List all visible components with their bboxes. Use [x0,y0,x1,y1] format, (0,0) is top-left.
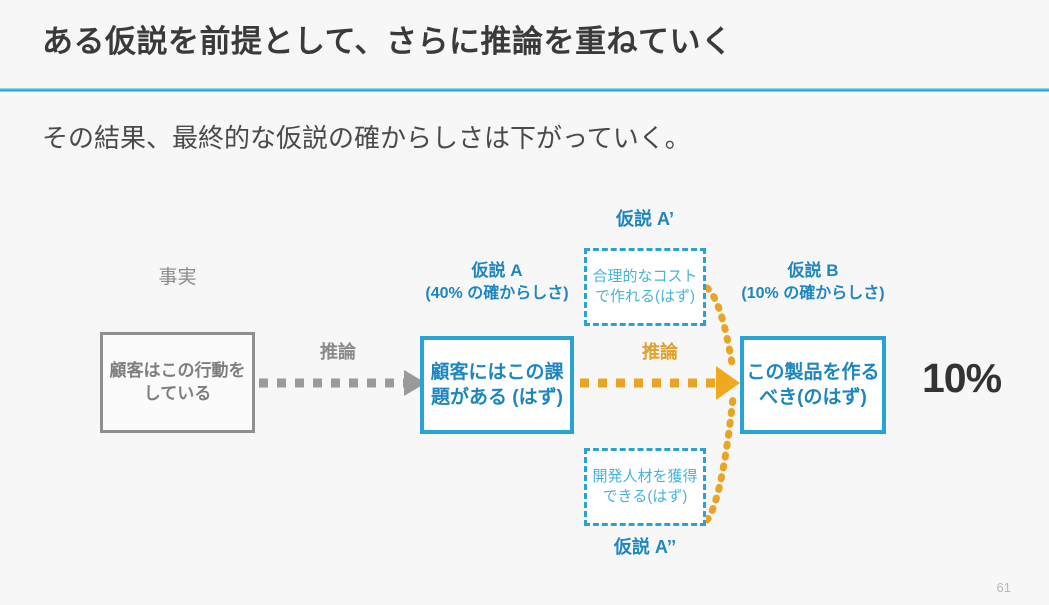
node-hypothesis-a[interactable]: 顧客にはこの課題がある (はず) [420,336,574,434]
node-hypothesis-b[interactable]: この製品を作るべき(のはず) [740,336,886,434]
label-hypothesis-a: 仮説 A (40% の確からしさ) [380,260,614,305]
label-hypothesis-b-title: 仮説 B [788,261,839,280]
node-hypothesis-a-prime[interactable]: 合理的なコストで作れる(はず) [584,248,706,326]
label-hypothesis-a-prime: 仮説 A’ [570,208,720,231]
page-number: 61 [997,580,1011,595]
label-hypothesis-a-double-prime: 仮説 A’’ [570,536,720,559]
label-hypothesis-a-certainty: (40% の確からしさ) [380,284,614,305]
node-fact[interactable]: 顧客はこの行動をしている [100,332,255,433]
final-certainty-callout: 10% [922,355,1001,402]
node-hypothesis-a-double-prime[interactable]: 開発人材を獲得できる(はず) [584,448,706,526]
edge-fact-to-a-icon [259,370,426,396]
hypothesis-chain-diagram: 事実 顧客はこの行動をしている 推論 仮説 A (40% の確からしさ) 顧客に… [0,0,1049,605]
edge-label-inference-2: 推論 [590,341,730,364]
edge-label-inference-1: 推論 [268,341,408,364]
label-hypothesis-a-title: 仮説 A [472,261,523,280]
edge-a-to-b-icon [580,366,740,400]
label-fact: 事実 [100,266,255,291]
edge-adprime-to-b-icon [707,398,733,520]
label-hypothesis-b: 仮説 B (10% の確からしさ) [700,260,926,305]
label-hypothesis-b-certainty: (10% の確からしさ) [700,284,926,305]
slide: ある仮説を前提として、さらに推論を重ねていく その結果、最終的な仮説の確からしさ… [0,0,1049,605]
